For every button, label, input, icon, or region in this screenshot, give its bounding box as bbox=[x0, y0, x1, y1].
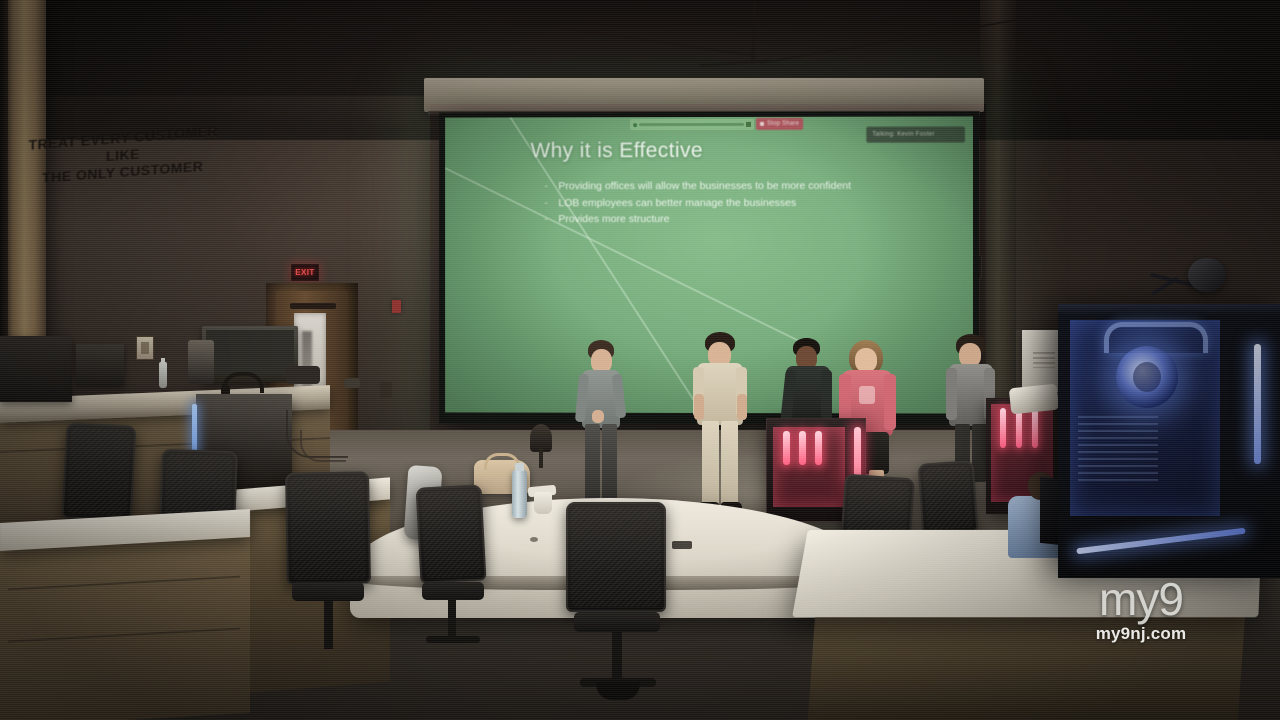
rgb-light-tube bbox=[799, 431, 806, 465]
pc-tower-blue-rgb bbox=[1058, 304, 1280, 578]
rgb-light-tube bbox=[1032, 408, 1038, 448]
rgb-light-tube bbox=[815, 431, 822, 465]
water-bottle bbox=[159, 362, 167, 388]
leg-left bbox=[702, 421, 719, 505]
rgb-led-strip bbox=[1254, 344, 1261, 464]
slide-title: Why it is Effective bbox=[531, 139, 703, 163]
headphones-icon bbox=[222, 372, 264, 393]
wall-panel bbox=[380, 382, 392, 398]
desk-body bbox=[0, 531, 250, 720]
desk-body bbox=[808, 600, 1246, 720]
participant-name-label: Talking: Kevin Foster bbox=[872, 132, 934, 138]
slide-bullet-item: Provides more structure bbox=[558, 212, 904, 228]
participant-name-chip: Talking: Kevin Foster bbox=[866, 126, 965, 142]
exit-sign: EXIT bbox=[291, 264, 319, 281]
hand bbox=[592, 410, 604, 423]
microphone-boom-arm bbox=[1150, 258, 1232, 318]
person-tan-polo bbox=[693, 332, 751, 526]
pc-internal-components bbox=[1078, 416, 1158, 486]
projector-screen-housing bbox=[424, 78, 984, 112]
stop-icon bbox=[760, 122, 764, 126]
cable-grommet bbox=[672, 541, 692, 549]
desk-object bbox=[1009, 384, 1059, 415]
stop-share-button[interactable]: Stop Share bbox=[756, 118, 803, 130]
lab-equipment bbox=[344, 378, 360, 388]
slide-bullet-item: LOB employees can better manage the busi… bbox=[558, 195, 904, 211]
water-bottle bbox=[512, 470, 527, 518]
back-monitor bbox=[0, 336, 72, 402]
rgb-led-strip bbox=[1076, 528, 1245, 555]
slide-bullet-list: Providing offices will allow the busines… bbox=[544, 179, 904, 229]
screen-share-bar[interactable] bbox=[630, 119, 754, 130]
forearm bbox=[694, 394, 704, 420]
slide-bullet-item: Providing offices will allow the busines… bbox=[558, 179, 904, 195]
broadcast-frame: TREAT EVERY CUSTOMER LIKE THE ONLY CUSTO… bbox=[0, 0, 1280, 720]
exit-sign-label: EXIT bbox=[295, 268, 314, 277]
forearm bbox=[737, 394, 747, 420]
person-grey-shirt bbox=[576, 340, 628, 520]
lab-equipment bbox=[286, 366, 320, 384]
lab-equipment bbox=[188, 340, 214, 384]
shirt-graphic bbox=[859, 386, 875, 404]
cable-bundle bbox=[300, 430, 346, 462]
arm-left bbox=[946, 368, 957, 420]
arm-right bbox=[821, 370, 832, 422]
share-stop-square-icon[interactable] bbox=[746, 122, 751, 127]
share-toolbar-track bbox=[639, 123, 744, 126]
rgb-light-tube bbox=[1016, 408, 1022, 448]
cable-grommet bbox=[530, 537, 538, 542]
wall-poster bbox=[136, 336, 154, 360]
head bbox=[855, 348, 877, 372]
leg-right bbox=[721, 421, 738, 505]
leg-right bbox=[602, 424, 617, 504]
door-closer bbox=[290, 303, 336, 309]
microphone-icon bbox=[1188, 258, 1226, 292]
rgb-light-tube bbox=[783, 431, 790, 465]
share-status-dot bbox=[633, 123, 637, 127]
fire-alarm-icon bbox=[392, 300, 401, 313]
arm-right bbox=[884, 374, 896, 430]
back-monitor bbox=[76, 344, 124, 386]
rgb-light-tube bbox=[1000, 408, 1006, 448]
desk-lamp bbox=[530, 424, 552, 452]
leg-left bbox=[585, 424, 600, 504]
cup bbox=[534, 492, 552, 514]
stop-share-label: Stop Share bbox=[767, 121, 799, 127]
rgb-fan-icon bbox=[1116, 346, 1178, 408]
